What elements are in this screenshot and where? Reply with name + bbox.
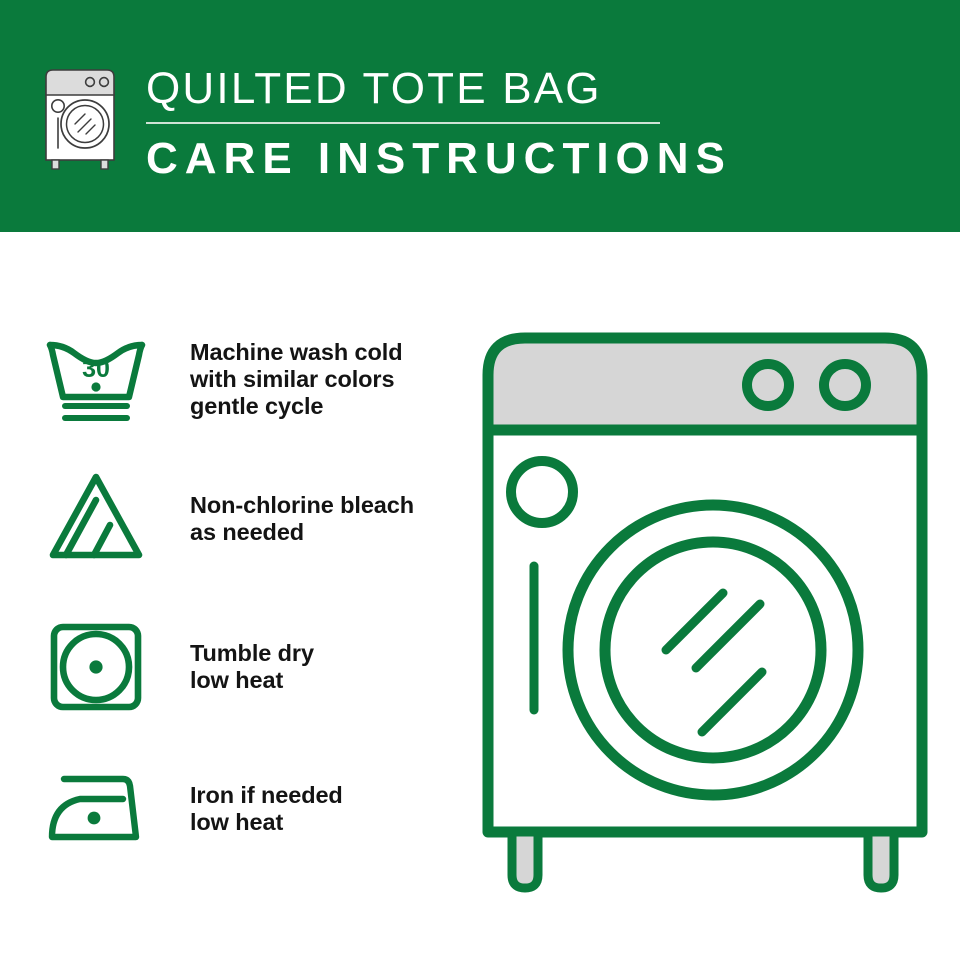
washer-knob-right: [824, 364, 866, 406]
care-item-label: Non-chlorine bleach as needed: [190, 492, 414, 546]
page-title: QUILTED TOTE BAG: [146, 64, 732, 114]
iron-low-heat-icon: [44, 757, 148, 861]
front-load-washing-machine-illustration: [470, 320, 940, 900]
care-item-tumble-dry: Tumble dry low heat: [44, 615, 464, 719]
care-item-label: Iron if needed low heat: [190, 782, 343, 836]
machine-wash-30-gentle-icon: 30: [44, 327, 148, 431]
header-text-block: QUILTED TOTE BAG CARE INSTRUCTIONS: [146, 62, 732, 184]
title-divider: [146, 122, 660, 124]
wash-temperature-label: 30: [82, 355, 110, 383]
header-content: QUILTED TOTE BAG CARE INSTRUCTIONS: [40, 62, 732, 184]
washing-machine-icon: [40, 62, 124, 170]
non-chlorine-bleach-triangle-icon: [44, 467, 148, 571]
page-subtitle: CARE INSTRUCTIONS: [146, 134, 732, 184]
washer-foot-right: [868, 832, 894, 888]
care-item-label: Machine wash cold with similar colors ge…: [190, 339, 402, 420]
washer-knob-left: [747, 364, 789, 406]
care-instructions-list: 30 Machine wash cold with similar colors…: [0, 232, 470, 960]
tumble-dry-low-heat-icon: [44, 615, 148, 719]
care-item-bleach: Non-chlorine bleach as needed: [44, 467, 464, 571]
care-item-machine-wash: 30 Machine wash cold with similar colors…: [44, 327, 464, 431]
care-item-iron: Iron if needed low heat: [44, 757, 464, 861]
care-item-label: Tumble dry low heat: [190, 640, 314, 694]
header-banner: QUILTED TOTE BAG CARE INSTRUCTIONS: [0, 0, 960, 232]
washer-foot-left: [512, 832, 538, 888]
